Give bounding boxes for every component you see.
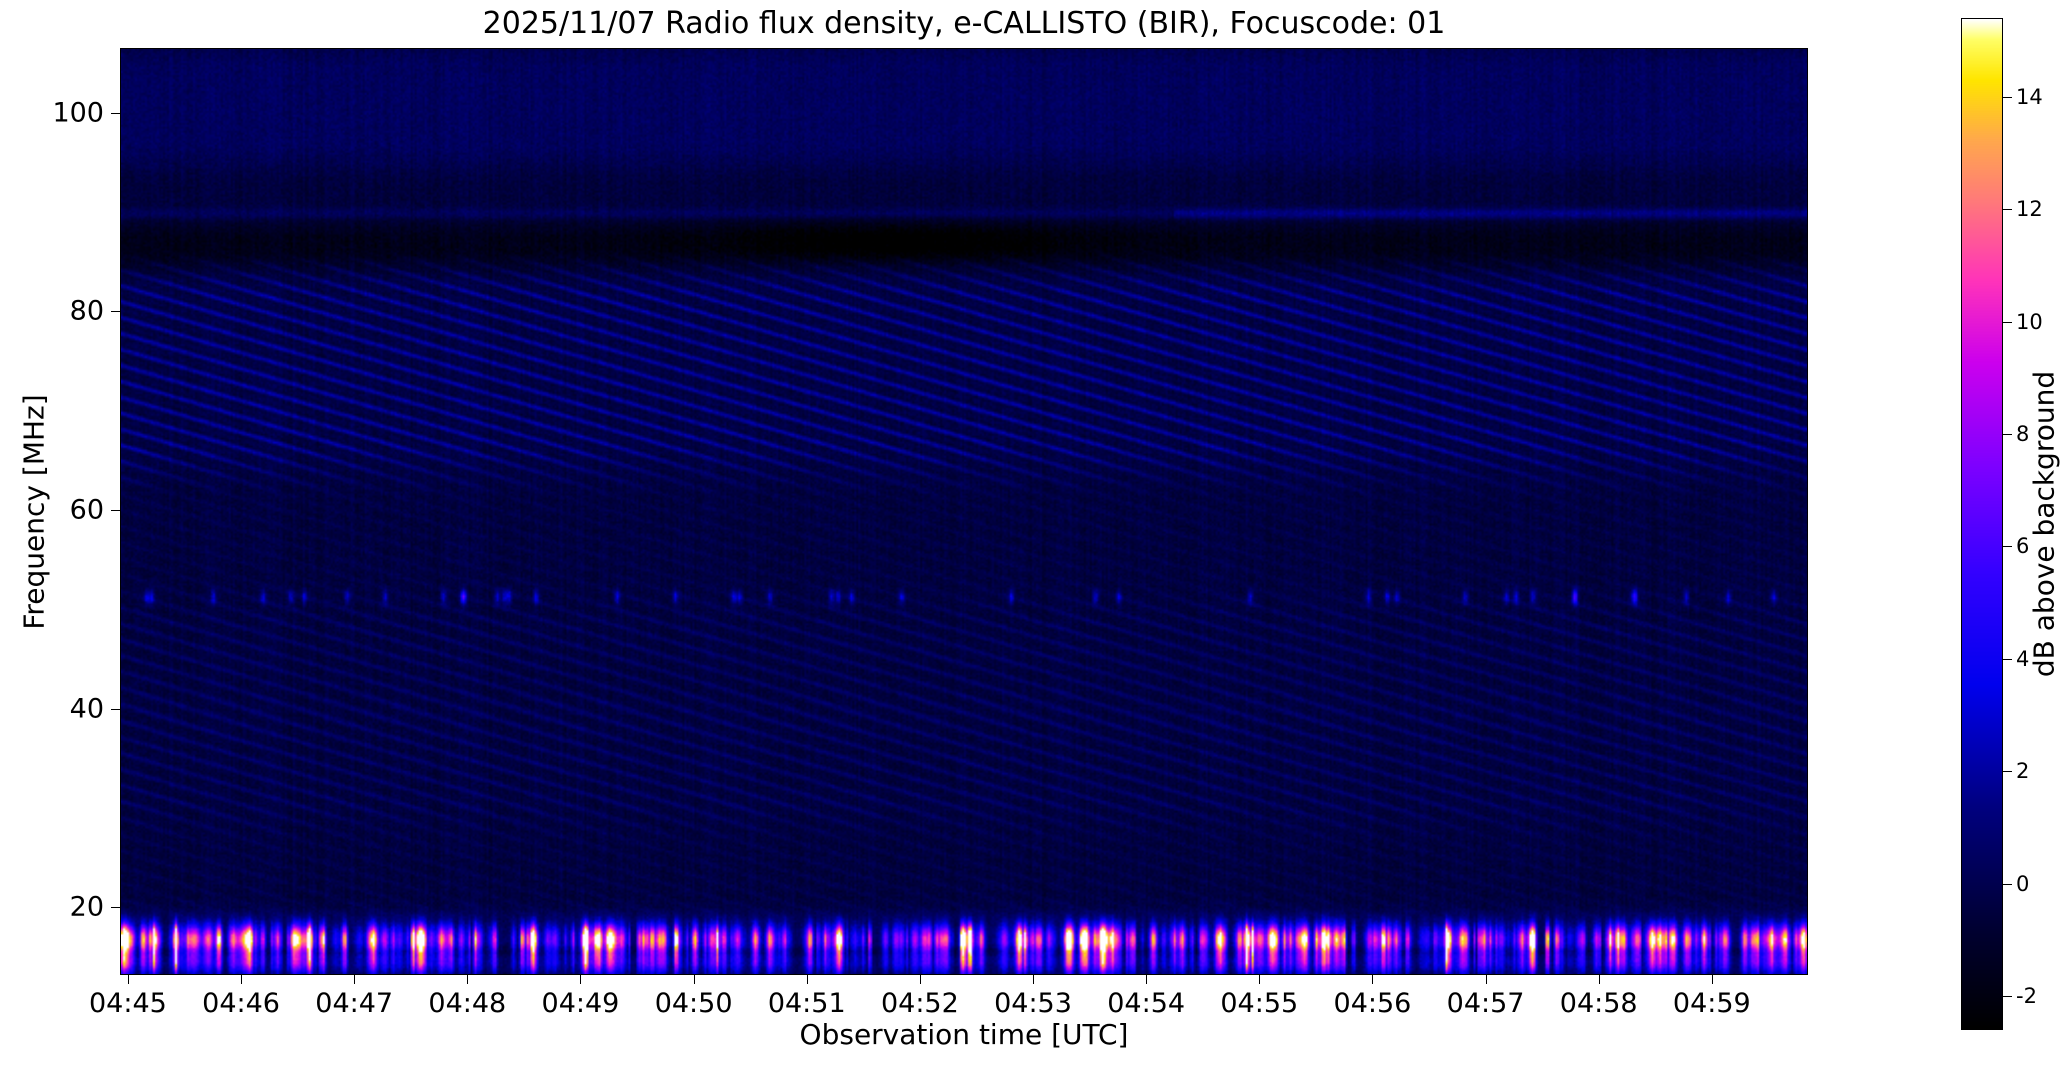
x-tick-mark (920, 975, 921, 984)
colorbar-tick-label: -2 (2016, 984, 2037, 1008)
x-tick-mark (1599, 975, 1600, 984)
colorbar-tick-mark (2003, 884, 2012, 885)
x-tick-label: 04:53 (994, 988, 1072, 1019)
x-tick-label: 04:49 (542, 988, 620, 1019)
figure-canvas: 2025/11/07 Radio flux density, e-CALLIST… (0, 0, 2066, 1067)
y-tick-label: 100 (0, 97, 104, 128)
y-tick-mark (111, 113, 120, 114)
x-tick-mark (1712, 975, 1713, 984)
x-tick-mark (241, 975, 242, 984)
colorbar-tick-label: 12 (2016, 197, 2043, 221)
y-tick-mark (111, 510, 120, 511)
x-tick-mark (694, 975, 695, 984)
x-tick-mark (1146, 975, 1147, 984)
y-tick-label: 20 (0, 892, 104, 923)
figure-title: 2025/11/07 Radio flux density, e-CALLIST… (120, 4, 1808, 44)
colorbar-tick-mark (2003, 996, 2012, 997)
x-tick-label: 04:55 (1220, 988, 1298, 1019)
colorbar-tick-mark (2003, 322, 2012, 323)
colorbar-tick-mark (2003, 434, 2012, 435)
x-tick-label: 04:47 (315, 988, 393, 1019)
x-tick-mark (1259, 975, 1260, 984)
y-tick-mark (111, 311, 120, 312)
x-tick-mark (1486, 975, 1487, 984)
x-tick-label: 04:48 (428, 988, 506, 1019)
x-tick-mark (467, 975, 468, 984)
x-tick-mark (128, 975, 129, 984)
x-tick-mark (807, 975, 808, 984)
colorbar-tick-mark (2003, 97, 2012, 98)
x-tick-mark (1372, 975, 1373, 984)
x-tick-label: 04:46 (202, 988, 280, 1019)
colorbar-tick-label: 2 (2016, 759, 2029, 783)
x-tick-label: 04:54 (1107, 988, 1185, 1019)
colorbar-tick-label: 14 (2016, 85, 2043, 109)
x-tick-label: 04:45 (89, 988, 167, 1019)
x-tick-label: 04:52 (881, 988, 959, 1019)
spectrogram-image[interactable] (121, 49, 1807, 974)
y-tick-mark (111, 907, 120, 908)
x-tick-mark (580, 975, 581, 984)
spectrogram-axes[interactable] (120, 48, 1808, 975)
colorbar-gradient[interactable] (1961, 18, 2003, 1030)
colorbar-tick-mark (2003, 771, 2012, 772)
x-tick-label: 04:58 (1560, 988, 1638, 1019)
colorbar-tick-mark (2003, 209, 2012, 210)
x-tick-label: 04:56 (1334, 988, 1412, 1019)
x-tick-mark (1033, 975, 1034, 984)
y-tick-label: 80 (0, 296, 104, 327)
x-axis-label: Observation time [UTC] (800, 1018, 1129, 1051)
colorbar-tick-label: 0 (2016, 872, 2029, 896)
x-tick-label: 04:59 (1673, 988, 1751, 1019)
colorbar-tick-label: 10 (2016, 310, 2043, 334)
x-tick-mark (354, 975, 355, 984)
y-tick-mark (111, 709, 120, 710)
y-tick-label: 40 (0, 693, 104, 724)
colorbar-tick-mark (2003, 546, 2012, 547)
colorbar-label: dB above background (2028, 371, 2061, 677)
x-tick-label: 04:50 (655, 988, 733, 1019)
y-tick-label: 60 (0, 495, 104, 526)
colorbar-tick-mark (2003, 659, 2012, 660)
x-tick-label: 04:51 (768, 988, 846, 1019)
colorbar[interactable]: -202468101214 (1961, 18, 2003, 1030)
x-tick-label: 04:57 (1447, 988, 1525, 1019)
